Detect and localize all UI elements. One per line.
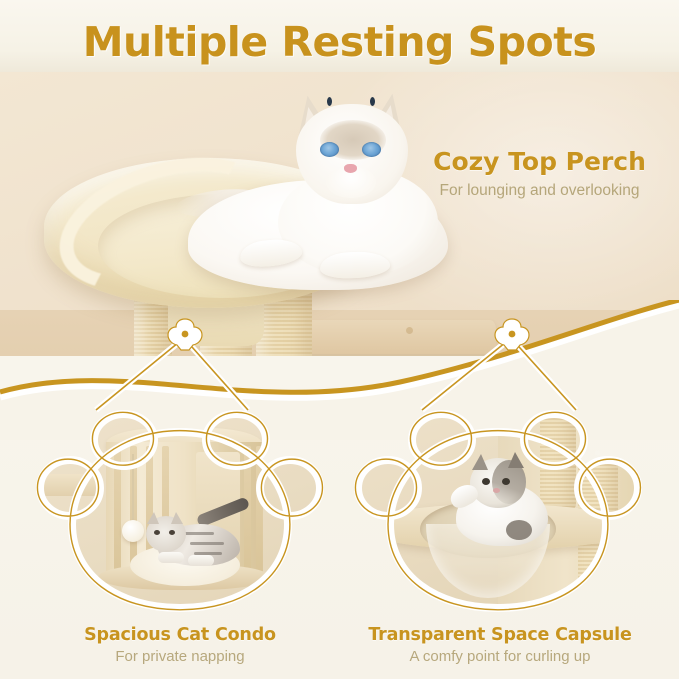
cat-eye — [320, 142, 339, 157]
callout-space-capsule — [348, 396, 648, 616]
caption-cat-condo: Spacious Cat Condo For private napping — [20, 624, 340, 668]
cat-pupil — [327, 97, 332, 106]
caption-subtitle: For private napping — [20, 646, 340, 668]
paw-frame-shape — [348, 396, 648, 616]
paw-pad-flower-icon — [167, 318, 203, 352]
feature-text-block: Cozy Top Perch For lounging and overlook… — [400, 146, 679, 204]
cat-eye — [362, 142, 381, 157]
caption-title: Transparent Space Capsule — [340, 624, 660, 646]
infographic-canvas: Multiple Resting Spots — [0, 0, 679, 679]
caption-space-capsule: Transparent Space Capsule A comfy point … — [340, 624, 660, 668]
caption-subtitle: A comfy point for curling up — [340, 646, 660, 668]
paw-frame-shape — [30, 396, 330, 616]
caption-title: Spacious Cat Condo — [20, 624, 340, 646]
feature-subtitle: For lounging and overlooking — [400, 178, 679, 204]
feature-title: Cozy Top Perch — [400, 146, 679, 178]
page-title: Multiple Resting Spots — [0, 16, 679, 68]
paw-pad-flower-icon — [494, 318, 530, 352]
cat-nose — [344, 164, 357, 173]
ragdoll-cat — [170, 94, 470, 314]
cat-pupil — [370, 97, 375, 106]
hero-photo — [0, 72, 679, 402]
callout-cat-condo — [30, 396, 330, 616]
